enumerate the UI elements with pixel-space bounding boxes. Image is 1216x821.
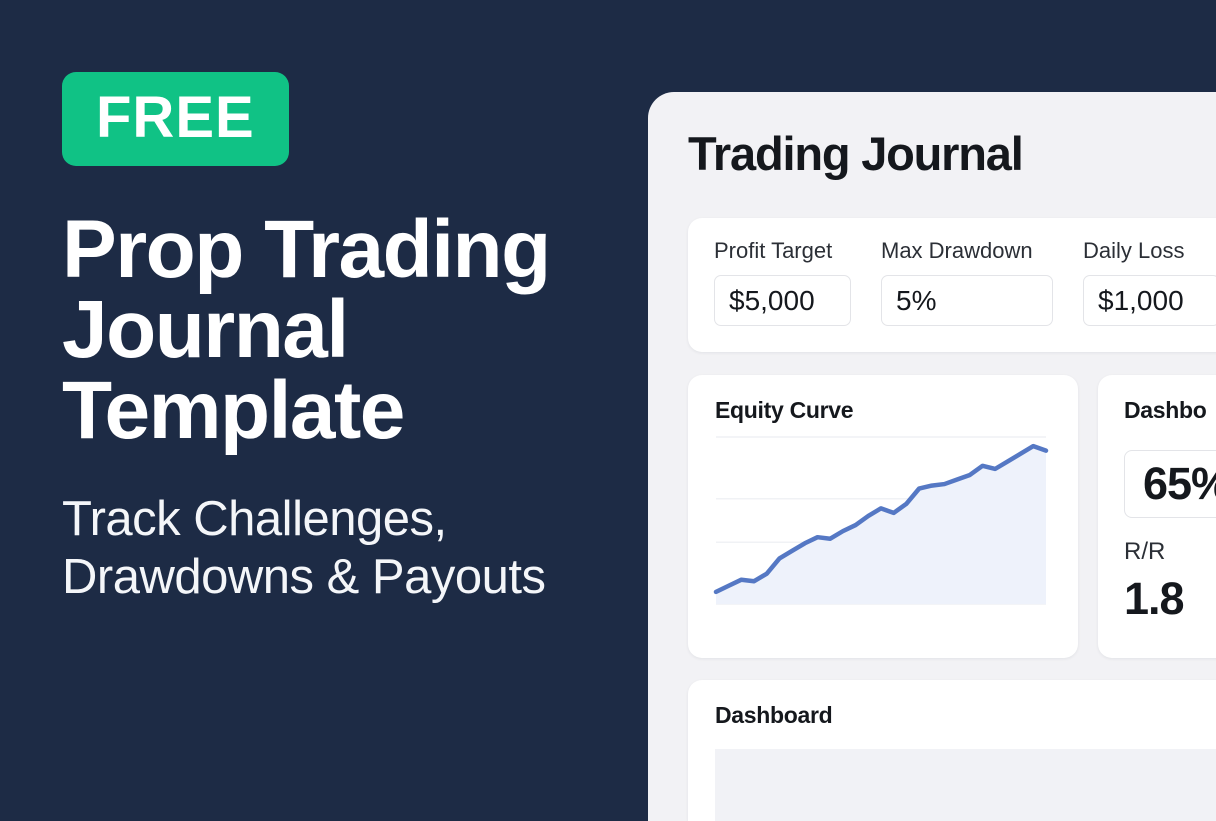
equity-curve-chart (688, 427, 1078, 652)
dashboard-side-card: Dashbo 65% R/R 1.8 (1098, 375, 1216, 658)
dashboard-side-title: Dashbo (1124, 399, 1216, 422)
stat-max-drawdown: Max Drawdown 5% (881, 240, 1053, 326)
free-badge: FREE (62, 72, 289, 166)
win-rate-value: 65% (1124, 450, 1216, 518)
stat-daily-loss: Daily Loss $1,000 (1083, 240, 1216, 326)
rr-label: R/R (1124, 540, 1216, 564)
dashboard-card: Dashboard (688, 680, 1216, 821)
promo-column: FREE Prop Trading Journal Template Track… (0, 0, 660, 821)
promo-title: Prop Trading Journal Template (62, 210, 622, 451)
profit-target-input[interactable]: $5,000 (714, 275, 851, 326)
dashboard-title: Dashboard (715, 704, 1216, 727)
dashboard-placeholder (715, 749, 1216, 821)
stat-label: Max Drawdown (881, 240, 1053, 262)
max-drawdown-input[interactable]: 5% (881, 275, 1053, 326)
equity-curve-title: Equity Curve (715, 399, 1078, 422)
stats-row: Profit Target $5,000 Max Drawdown 5% Dai… (714, 240, 1216, 326)
stat-profit-target: Profit Target $5,000 (714, 240, 851, 326)
stat-label: Daily Loss (1083, 240, 1216, 262)
app-title: Trading Journal (688, 130, 1216, 177)
stats-card: Profit Target $5,000 Max Drawdown 5% Dai… (688, 218, 1216, 352)
promo-subtitle: Track Challenges, Drawdowns & Payouts (62, 491, 562, 607)
rr-value: 1.8 (1124, 576, 1216, 621)
equity-curve-card: Equity Curve (688, 375, 1078, 658)
daily-loss-input[interactable]: $1,000 (1083, 275, 1216, 326)
stat-label: Profit Target (714, 240, 851, 262)
